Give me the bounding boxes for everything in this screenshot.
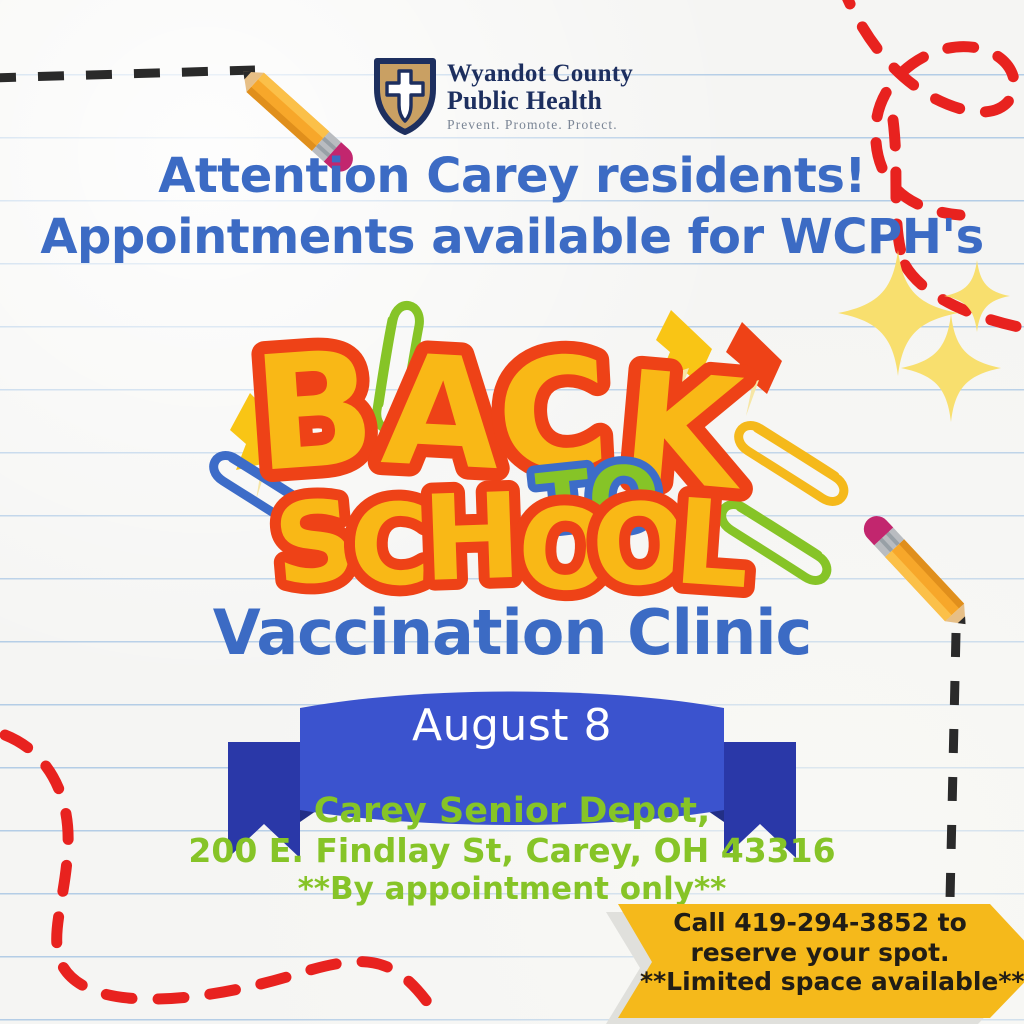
logo-text-block: Wyandot County Public Health Prevent. Pr… <box>447 59 633 132</box>
address-block: Carey Senior Depot, 200 E. Findlay St, C… <box>0 792 1024 907</box>
callout-line2: reserve your spot. <box>640 938 1000 968</box>
headline-block: Attention Carey residents! Appointments … <box>0 152 1024 262</box>
address-line3: **By appointment only** <box>0 872 1024 907</box>
organization-logo: Wyandot County Public Health Prevent. Pr… <box>373 52 663 138</box>
callout-text-block: Call 419-294-3852 to reserve your spot. … <box>640 908 1000 997</box>
callout-line1: Call 419-294-3852 to <box>640 908 1000 938</box>
shield-logo-icon <box>373 55 437 135</box>
address-line2: 200 E. Findlay St, Carey, OH 43316 <box>0 833 1024 870</box>
headline-line2: Appointments available for WCPH's <box>0 213 1024 262</box>
poster-canvas: Wyandot County Public Health Prevent. Pr… <box>0 0 1024 1024</box>
callout-line3: **Limited space available** <box>640 967 1000 997</box>
ribbon-date-text: August 8 <box>0 700 1024 751</box>
logo-org-line2: Public Health <box>447 88 633 114</box>
logo-tagline: Prevent. Promote. Protect. <box>447 118 633 132</box>
clinic-subtitle: Vaccination Clinic <box>0 596 1024 669</box>
logo-org-line1: Wyandot County <box>447 61 633 86</box>
address-line1: Carey Senior Depot, <box>0 792 1024 831</box>
headline-line1: Attention Carey residents! <box>0 152 1024 201</box>
